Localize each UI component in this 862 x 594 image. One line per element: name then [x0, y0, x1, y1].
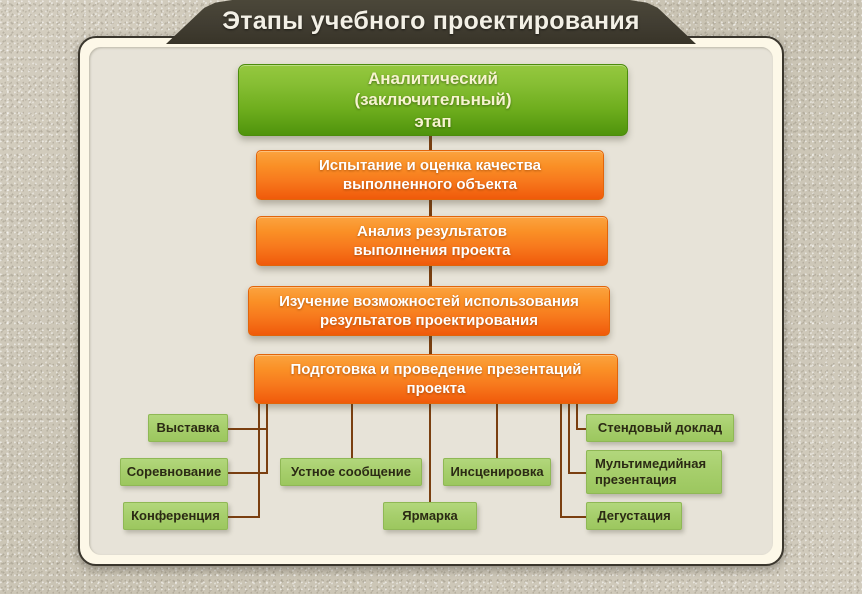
node-leaf-yarmarka-label: Ярмарка: [402, 508, 457, 524]
node-leaf-konferenciya-label: Конференция: [131, 508, 220, 524]
node-root-line1: Аналитический: [355, 68, 512, 89]
node-leaf-vystavka-label: Выставка: [156, 420, 219, 436]
node-stage-1-line2: выполненного объекта: [319, 175, 541, 195]
node-leaf-sorevnovanie[interactable]: Соревнование: [120, 458, 228, 486]
page-title: Этапы учебного проектирования: [166, 0, 696, 44]
node-leaf-multimedia-line1: Мультимедийная: [595, 456, 706, 472]
node-leaf-multimedia-presentation[interactable]: Мультимедийная презентация: [586, 450, 722, 494]
node-root-line2: (заключительный): [355, 89, 512, 110]
node-leaf-vystavka[interactable]: Выставка: [148, 414, 228, 442]
node-stage-2[interactable]: Анализ результатов выполнения проекта: [256, 216, 608, 266]
node-stage-4[interactable]: Подготовка и проведение презентаций прое…: [254, 354, 618, 404]
flowchart: Аналитический (заключительный) этап Испы…: [0, 0, 862, 594]
node-leaf-stendovyy-doklad-label: Стендовый доклад: [598, 420, 722, 436]
node-stage-4-line1: Подготовка и проведение презентаций: [290, 360, 581, 380]
node-root-analytical-stage[interactable]: Аналитический (заключительный) этап: [238, 64, 628, 136]
node-leaf-degustaciya-label: Дегустация: [597, 508, 670, 524]
node-leaf-ustnoe-soobshenie[interactable]: Устное сообщение: [280, 458, 422, 486]
node-leaf-inscenirovka-label: Инсценировка: [450, 464, 543, 480]
node-leaf-inscenirovka[interactable]: Инсценировка: [443, 458, 551, 486]
node-stage-3-line2: результатов проектирования: [279, 311, 579, 331]
node-leaf-ustnoe-soobshenie-label: Устное сообщение: [291, 464, 411, 480]
node-leaf-konferenciya[interactable]: Конференция: [123, 502, 228, 530]
node-leaf-degustaciya[interactable]: Дегустация: [586, 502, 682, 530]
node-stage-1-line1: Испытание и оценка качества: [319, 156, 541, 176]
node-leaf-multimedia-line2: презентация: [595, 472, 706, 488]
node-stage-2-line1: Анализ результатов: [354, 222, 511, 242]
node-stage-4-line2: проекта: [290, 379, 581, 399]
node-stage-3[interactable]: Изучение возможностей использования резу…: [248, 286, 610, 336]
node-stage-1[interactable]: Испытание и оценка качества выполненного…: [256, 150, 604, 200]
node-leaf-stendovyy-doklad[interactable]: Стендовый доклад: [586, 414, 734, 442]
title-banner: Этапы учебного проектирования: [166, 0, 696, 44]
node-leaf-yarmarka[interactable]: Ярмарка: [383, 502, 477, 530]
node-stage-3-line1: Изучение возможностей использования: [279, 292, 579, 312]
node-stage-2-line2: выполнения проекта: [354, 241, 511, 261]
node-root-line3: этап: [355, 111, 512, 132]
node-leaf-sorevnovanie-label: Соревнование: [127, 464, 221, 480]
